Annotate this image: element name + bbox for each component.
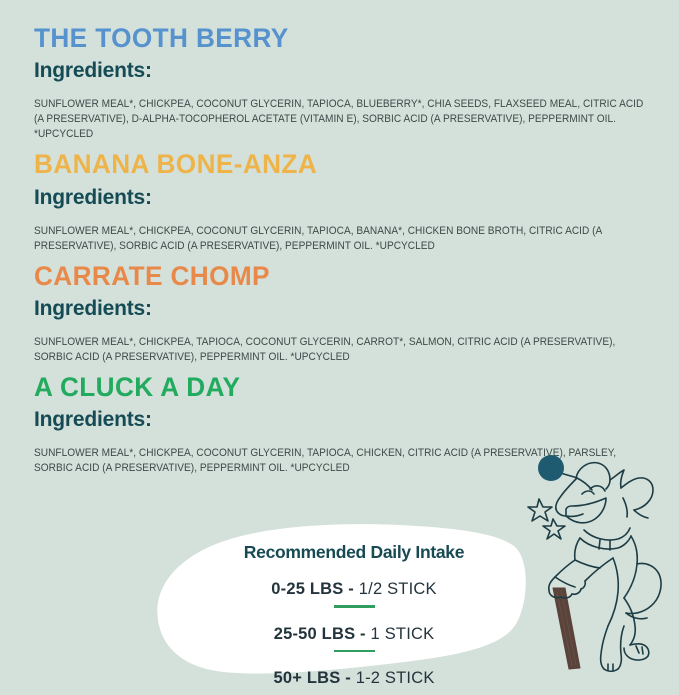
chew-stick-icon <box>553 588 580 669</box>
intake-row: 0-25 LBS - 1/2 STICK <box>150 580 550 599</box>
intake-amount: 1 STICK <box>371 625 435 643</box>
ingredients-label: Ingredients: <box>34 408 649 431</box>
intake-row: 25-50 LBS - 1 STICK <box>150 625 550 644</box>
product-title: BANANA BONE-ANZA <box>34 150 631 179</box>
intake-weight-range: 0-25 LBS - <box>271 580 358 598</box>
ingredients-info-panel: THE TOOTH BERRY Ingredients: SUNFLOWER M… <box>0 0 679 679</box>
intake-panel-title: Recommended Daily Intake <box>150 542 550 563</box>
ingredients-label: Ingredients: <box>34 59 649 82</box>
product-title: A CLUCK A DAY <box>34 373 631 402</box>
recommended-daily-intake-panel: Recommended Daily Intake 0-25 LBS - 1/2 … <box>150 520 550 680</box>
ingredients-text: SUNFLOWER MEAL*, CHICKPEA, TAPIOCA, COCO… <box>34 333 645 365</box>
intake-amount: 1-2 STICK <box>356 669 435 687</box>
intake-divider <box>334 605 375 608</box>
ingredients-text: SUNFLOWER MEAL*, CHICKPEA, COCONUT GLYCE… <box>34 222 645 254</box>
ingredients-text: SUNFLOWER MEAL*, CHICKPEA, COCONUT GLYCE… <box>34 95 645 142</box>
product-title: CARRATE CHOMP <box>34 262 631 291</box>
intake-weight-range: 50+ LBS - <box>273 669 355 687</box>
ingredients-label: Ingredients: <box>34 186 649 209</box>
product-ingredient-list: THE TOOTH BERRY Ingredients: SUNFLOWER M… <box>34 24 649 482</box>
ball-icon <box>538 455 564 481</box>
star-icon <box>543 519 565 539</box>
intake-divider <box>334 650 375 653</box>
dog-illustration <box>520 440 679 680</box>
intake-weight-range: 25-50 LBS - <box>274 625 371 643</box>
star-icon <box>528 499 552 521</box>
product-block-carrate-chomp: CARRATE CHOMP Ingredients: SUNFLOWER MEA… <box>34 262 649 365</box>
intake-amount: 1/2 STICK <box>359 580 437 598</box>
product-title: THE TOOTH BERRY <box>34 24 631 53</box>
product-block-tooth-berry: THE TOOTH BERRY Ingredients: SUNFLOWER M… <box>34 24 649 142</box>
ingredients-label: Ingredients: <box>34 297 649 320</box>
product-block-banana-bone-anza: BANANA BONE-ANZA Ingredients: SUNFLOWER … <box>34 150 649 253</box>
